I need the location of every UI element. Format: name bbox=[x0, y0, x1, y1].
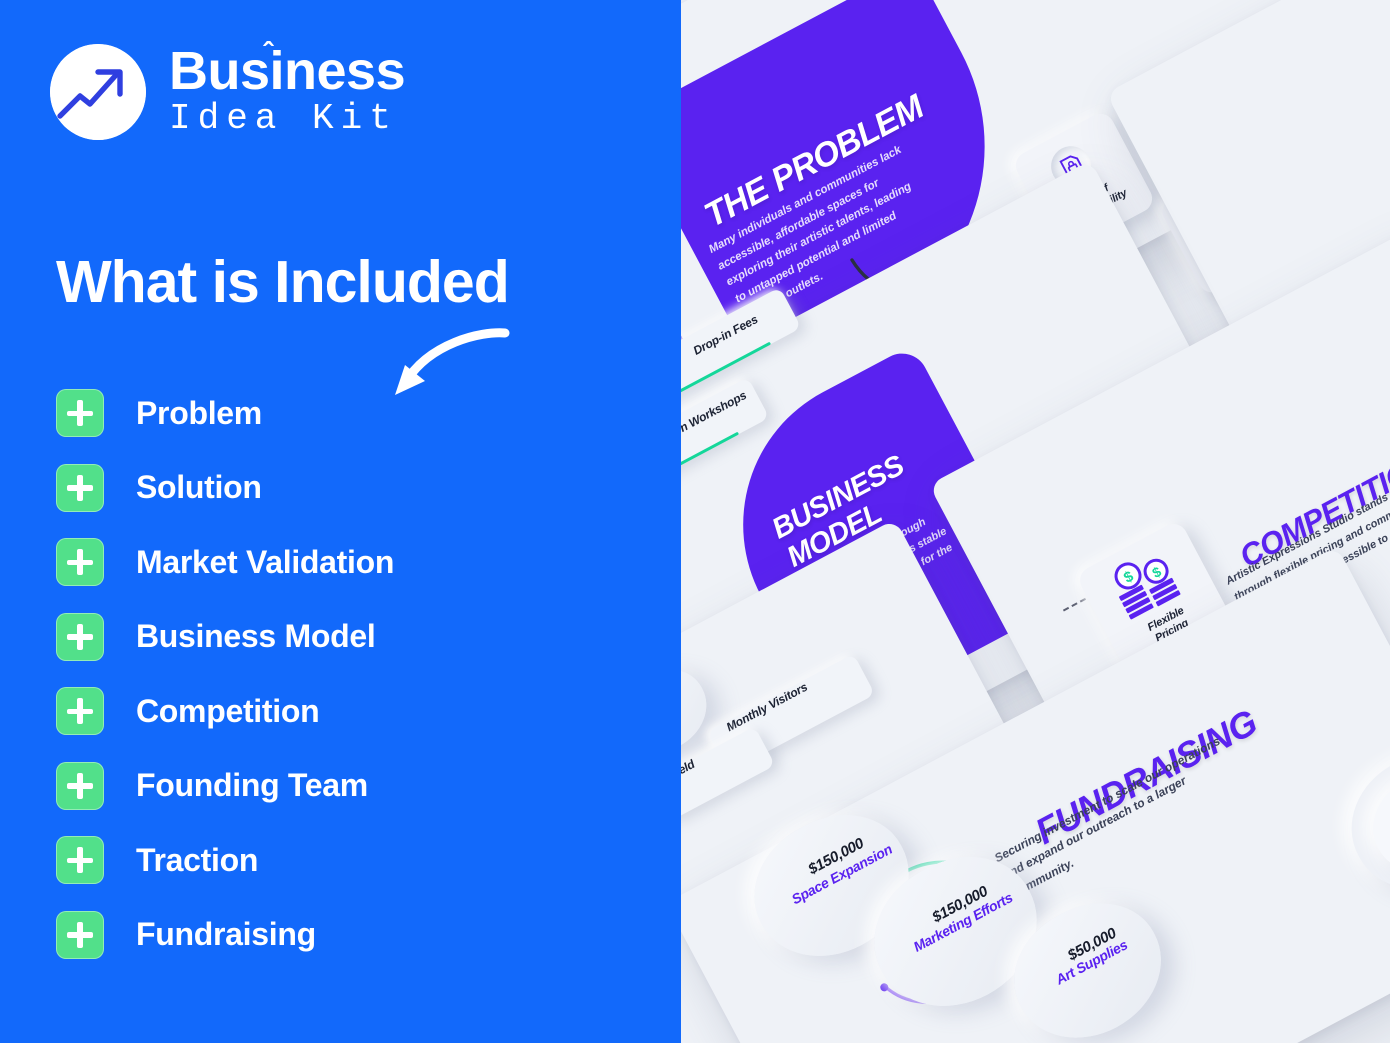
feature-item-solution[interactable]: Solution bbox=[56, 463, 616, 513]
plus-icon bbox=[56, 613, 104, 661]
feature-label: Fundraising bbox=[136, 916, 316, 953]
plus-icon bbox=[56, 464, 104, 512]
feature-item-founding-team[interactable]: Founding Team bbox=[56, 761, 616, 811]
feature-item-problem[interactable]: Problem bbox=[56, 388, 616, 438]
left-info-panel: Busîness Idea Kit What is Included Prob… bbox=[0, 0, 681, 1043]
feature-label: Traction bbox=[136, 842, 258, 879]
feature-item-traction[interactable]: Traction bbox=[56, 835, 616, 885]
feature-item-fundraising[interactable]: Fundraising bbox=[56, 910, 616, 960]
brand-title: Busîness bbox=[169, 45, 405, 98]
feature-label: Competition bbox=[136, 693, 319, 730]
plus-icon bbox=[56, 389, 104, 437]
plus-icon bbox=[56, 836, 104, 884]
included-features-list: Problem Solution Market Validation Busin… bbox=[56, 388, 616, 984]
feature-label: Founding Team bbox=[136, 767, 368, 804]
feature-label: Problem bbox=[136, 395, 262, 432]
plus-icon bbox=[56, 762, 104, 810]
slide-deck-preview: THE PROBLEM Many individuals and communi… bbox=[660, 0, 1390, 1043]
growth-chart-circle-icon bbox=[50, 44, 146, 140]
plus-icon bbox=[56, 911, 104, 959]
plus-icon bbox=[56, 687, 104, 735]
feature-item-competition[interactable]: Competition bbox=[56, 686, 616, 736]
plus-icon bbox=[56, 538, 104, 586]
feature-label: Business Model bbox=[136, 618, 375, 655]
feature-item-business-model[interactable]: Business Model bbox=[56, 612, 616, 662]
feature-label: Solution bbox=[136, 469, 262, 506]
page-title: What is Included bbox=[56, 248, 509, 316]
feature-item-market-validation[interactable]: Market Validation bbox=[56, 537, 616, 587]
brand-subtitle: Idea Kit bbox=[169, 99, 405, 139]
feature-label: Market Validation bbox=[136, 544, 394, 581]
brand-logo[interactable]: Busîness Idea Kit bbox=[50, 44, 405, 140]
